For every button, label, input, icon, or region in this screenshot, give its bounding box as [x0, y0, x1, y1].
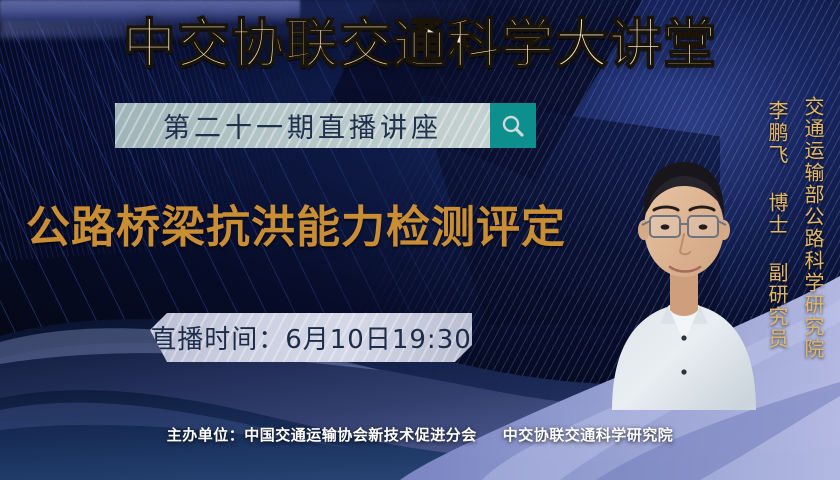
- footer-label: 主办单位：: [167, 426, 245, 444]
- footer-organizers: 主办单位：中国交通运输协会新技术促进分会中交协联交通科学研究院: [0, 424, 840, 445]
- speaker-photo: [600, 110, 765, 410]
- topic-title: 公路桥梁抗洪能力检测评定: [26, 203, 566, 254]
- page-title: 中交协联交通科学大讲堂: [0, 16, 840, 73]
- subtitle-bar-body: 第二十一期直播讲座: [115, 103, 490, 148]
- subtitle-bar: 第二十一期直播讲座: [115, 103, 536, 148]
- subtitle-label: 第二十一期直播讲座: [163, 106, 442, 145]
- footer-org-secondary: 中交协联交通科学研究院: [503, 426, 674, 444]
- speaker-name-title: 李鹏飞 博士 副研究员: [763, 100, 792, 350]
- search-button[interactable]: [490, 103, 536, 148]
- poster-canvas: 中交协联交通科学大讲堂 第二十一期直播讲座 公路桥梁抗洪能力检测评定 直播时间：…: [0, 0, 840, 480]
- live-time-badge: 直播时间：6月10日19:30: [150, 313, 472, 362]
- speaker-organization: 交通运输部公路科学研究院: [799, 96, 828, 360]
- live-time-text: 直播时间：6月10日19:30: [150, 319, 472, 356]
- search-icon: [500, 113, 526, 139]
- footer-org-primary: 中国交通运输协会新技术促进分会: [244, 426, 477, 444]
